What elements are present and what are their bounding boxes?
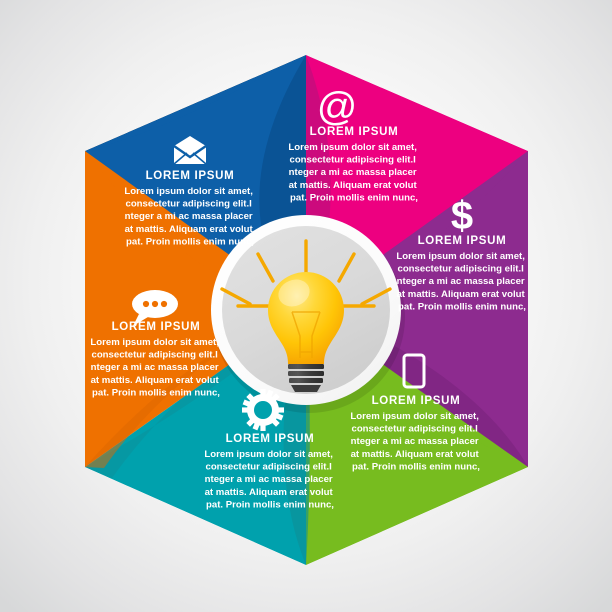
at-sign-icon: @	[317, 85, 358, 129]
segment-money-title: LOREM IPSUM	[418, 235, 507, 247]
hexagon-infographic: @ $	[0, 0, 612, 612]
segment-email-title: LOREM IPSUM	[146, 170, 235, 182]
segment-settings-body: Lorem ipsum dolor sit amet, consectetur …	[204, 449, 335, 510]
bulb-base-icon	[288, 364, 324, 392]
segment-money-body: Lorem ipsum dolor sit amet, consectetur …	[396, 251, 527, 312]
segment-chat-title: LOREM IPSUM	[112, 321, 201, 333]
infographic-canvas: @ $	[0, 0, 612, 612]
segment-email-body: Lorem ipsum dolor sit amet, consectetur …	[124, 186, 255, 247]
segment-mobile-body: Lorem ipsum dolor sit amet, consectetur …	[350, 411, 481, 472]
segment-at-title: LOREM IPSUM	[310, 126, 399, 138]
gear-icon	[242, 389, 284, 431]
segment-at-body: Lorem ipsum dolor sit amet, consectetur …	[288, 142, 419, 203]
segment-mobile-title: LOREM IPSUM	[372, 395, 461, 407]
segment-settings-title: LOREM IPSUM	[226, 433, 315, 445]
segment-chat-body: Lorem ipsum dolor sit amet, consectetur …	[90, 337, 221, 398]
dollar-sign-icon: $	[451, 194, 473, 238]
